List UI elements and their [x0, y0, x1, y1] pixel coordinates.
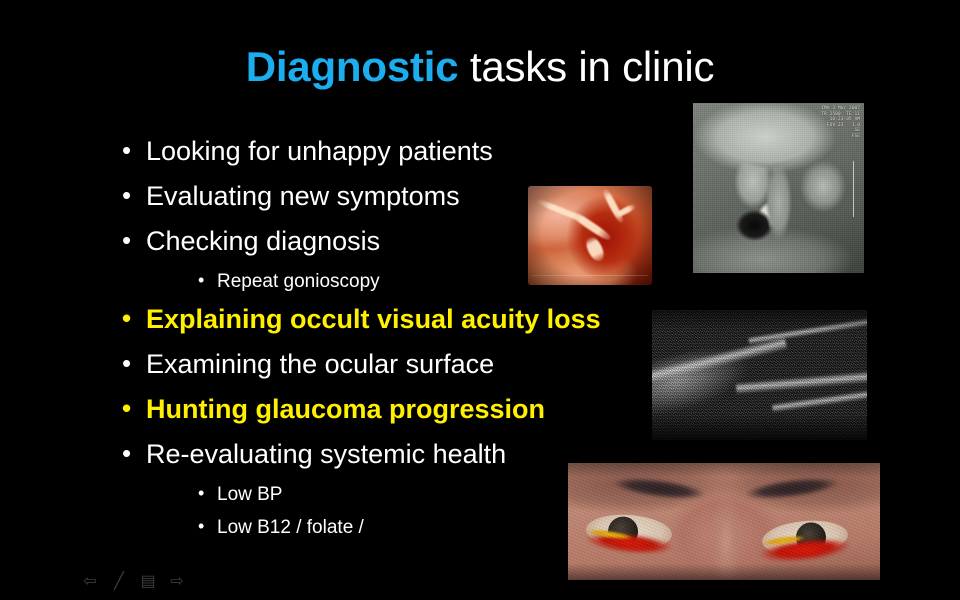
title-rest: tasks in clinic — [458, 43, 714, 90]
anterior-segment-oct-image — [652, 310, 867, 440]
list-item-label: Re-evaluating systemic health — [146, 439, 506, 469]
list-item-highlighted: • Explaining occult visual acuity loss — [122, 304, 682, 349]
bullet-icon: • — [198, 517, 217, 535]
clinical-eye-photograph — [568, 463, 880, 580]
list-item-label: Examining the ocular surface — [146, 349, 494, 379]
list-item-label: Checking diagnosis — [146, 226, 380, 256]
bullet-icon: • — [122, 395, 146, 421]
bullet-icon: • — [122, 137, 146, 163]
oct-vignette — [652, 310, 867, 440]
bullet-icon: • — [122, 182, 146, 208]
list-item-label: Explaining occult visual acuity loss — [146, 304, 601, 334]
presentation-slide: Diagnostic tasks in clinic • Looking for… — [0, 0, 960, 600]
sub-list-item-label: Low B12 / folate / — [217, 517, 364, 539]
bullet-icon: • — [122, 440, 146, 466]
pen-annotation-button[interactable]: ╱ — [111, 574, 127, 588]
bullet-icon: • — [122, 350, 146, 376]
bullet-icon: • — [122, 227, 146, 253]
bullet-icon: • — [198, 271, 217, 289]
sub-list-item-label: Low BP — [217, 484, 282, 506]
list-item: • Looking for unhappy patients — [122, 136, 682, 181]
mri-scale-bar — [853, 161, 854, 217]
page-title: Diagnostic tasks in clinic — [0, 44, 960, 90]
sagittal-brain-mri-image: IMA 3 Mar 2007 TR 2500 TE 11 10:23:05 AM… — [693, 103, 864, 273]
title-accent-word: Diagnostic — [246, 43, 459, 90]
list-item: • Examining the ocular surface — [122, 349, 682, 394]
list-item-label: Evaluating new symptoms — [146, 181, 460, 211]
bullet-icon: • — [198, 484, 217, 502]
gonioscopy-vignette — [528, 186, 652, 285]
next-slide-button[interactable]: ⇨ — [169, 574, 185, 588]
sub-list-item-label: Repeat gonioscopy — [217, 271, 380, 293]
list-item-label: Hunting glaucoma progression — [146, 394, 545, 424]
mri-dicom-overlay-text: IMA 3 Mar 2007 TR 2500 TE 11 10:23:05 AM… — [798, 106, 860, 140]
bullet-icon: • — [122, 305, 146, 331]
list-item-label: Looking for unhappy patients — [146, 136, 493, 166]
list-item-highlighted: • Hunting glaucoma progression — [122, 394, 682, 439]
photo-vignette — [568, 463, 880, 580]
presenter-toolbar[interactable]: ⇦ ╱ ▤ ⇨ — [82, 574, 185, 588]
gonioscopy-image — [528, 186, 652, 285]
slide-menu-button[interactable]: ▤ — [140, 574, 156, 588]
previous-slide-button[interactable]: ⇦ — [82, 574, 98, 588]
